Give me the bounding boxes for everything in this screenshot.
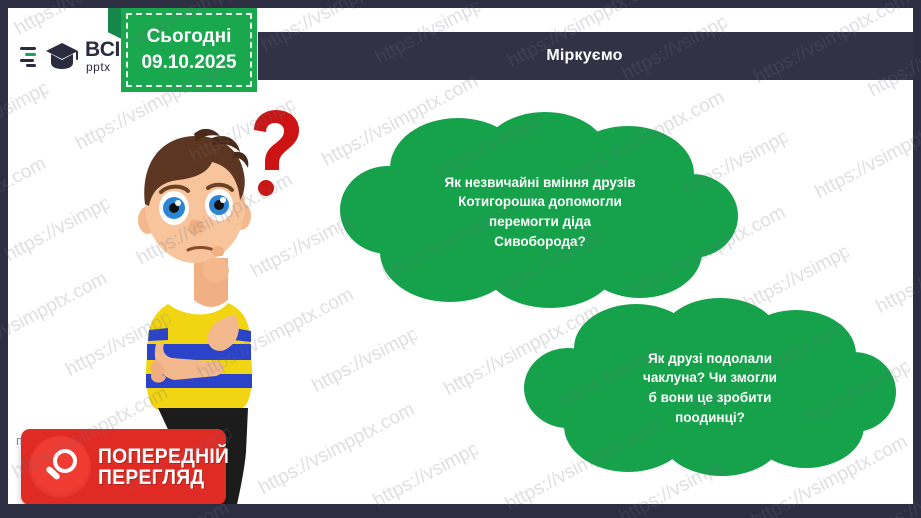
preview-badge[interactable]: ПОПЕРЕДНІЙ ПЕРЕГЛЯД <box>21 429 226 504</box>
slide-header-bar: Міркуємо <box>256 32 913 80</box>
bottom-frame-strip <box>0 504 921 518</box>
date-badge-label: Сьогодні <box>147 25 232 49</box>
speech-cloud-2: Як друзі подолали чаклуна? Чи змогли б в… <box>524 298 896 478</box>
cloud-1-text: Як незвичайні вміння друзів Котигорошка … <box>340 112 740 312</box>
graduation-cap-icon <box>45 41 79 71</box>
page-title: Міркуємо <box>256 32 913 80</box>
speed-lines-icon <box>20 43 42 69</box>
date-badge-value: 09.10.2025 <box>141 51 236 75</box>
today-date-badge: Сьогодні 09.10.2025 <box>121 8 257 92</box>
slide-stage: п с <box>0 0 921 518</box>
cloud-2-text: Як друзі подолали чаклуна? Чи змогли б в… <box>524 298 896 478</box>
magnifier-icon <box>29 436 91 498</box>
preview-badge-line2: ПЕРЕГЛЯД <box>98 467 229 488</box>
speech-cloud-1: Як незвичайні вміння друзів Котигорошка … <box>340 112 740 312</box>
logo-wrap: BCIM pptx <box>20 39 137 73</box>
preview-badge-text: ПОПЕРЕДНІЙ ПЕРЕГЛЯД <box>98 446 241 488</box>
preview-badge-line1: ПОПЕРЕДНІЙ <box>98 446 229 467</box>
slide-canvas: п с <box>8 8 913 504</box>
question-mark-icon <box>254 110 299 196</box>
